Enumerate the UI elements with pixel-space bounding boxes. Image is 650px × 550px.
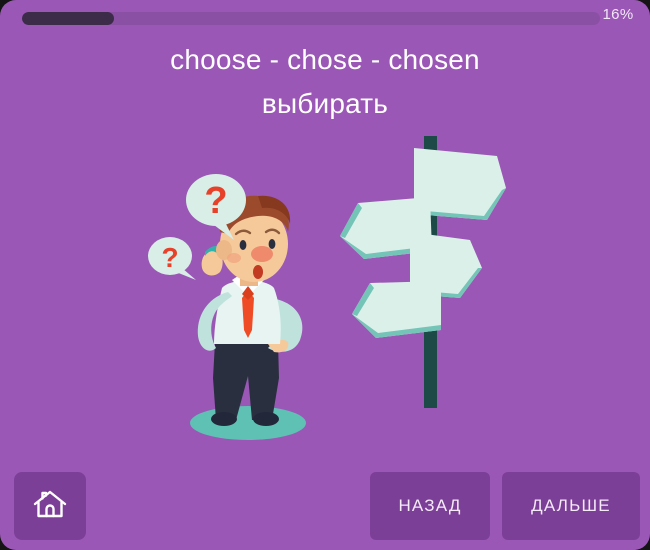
shoe-left xyxy=(211,412,237,426)
cheek xyxy=(227,253,241,263)
home-button[interactable] xyxy=(14,472,86,540)
confused-man-graphic xyxy=(190,196,306,440)
speech-bubble-small: ? xyxy=(148,237,196,280)
lesson-title: choose - chose - chosen xyxy=(0,44,650,76)
progress-bar-track xyxy=(22,12,600,25)
ground-shadow xyxy=(190,406,306,440)
lesson-card: 16% choose - chose - chosen выбирать xyxy=(0,0,650,550)
mouth xyxy=(253,265,263,279)
shoe-right xyxy=(253,412,279,426)
signpost-graphic xyxy=(340,136,506,408)
next-button[interactable]: ДАЛЬШЕ xyxy=(502,472,640,540)
eye-right xyxy=(269,239,276,249)
footer-bar: НАЗАД ДАЛЬШЕ xyxy=(0,460,650,550)
back-button[interactable]: НАЗАД xyxy=(370,472,490,540)
progress-percent-label: 16% xyxy=(596,6,640,23)
question-mark-small: ? xyxy=(161,242,178,273)
eye-left xyxy=(240,240,247,250)
lesson-subtitle: выбирать xyxy=(0,88,650,120)
nose xyxy=(251,246,273,262)
progress-bar-fill xyxy=(22,12,114,25)
question-mark-large: ? xyxy=(204,180,227,222)
home-icon xyxy=(33,489,67,524)
lesson-illustration: ? ? xyxy=(0,128,650,448)
signpost-sign-4 xyxy=(352,281,441,338)
progress-row: 16% xyxy=(0,0,650,34)
